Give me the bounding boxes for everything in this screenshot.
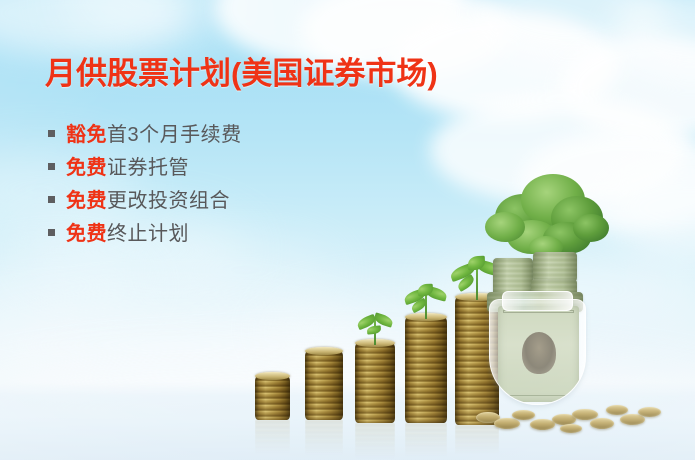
- bullet-highlight: 豁免: [66, 118, 107, 147]
- coin-reflection: [455, 425, 499, 455]
- dollar-bill: [498, 306, 579, 402]
- scattered-coin: [512, 410, 535, 420]
- list-item: 免费 证券托管: [48, 151, 242, 184]
- square-bullet-icon: [48, 130, 55, 137]
- promo-banner: 月供股票计划(美国证券市场) 豁免 首3个月手续费 免费 证券托管 免费 更改投…: [0, 0, 695, 460]
- coin-column: [355, 343, 395, 423]
- coin-column: [255, 376, 290, 420]
- scattered-coin: [590, 418, 614, 429]
- plant-sprout: [404, 285, 448, 319]
- page-title: 月供股票计划(美国证券市场): [45, 48, 438, 93]
- tree-canopy: [573, 214, 609, 242]
- coin-stack: [305, 351, 343, 420]
- coin-column: [405, 317, 447, 423]
- jar-body: [489, 299, 586, 405]
- bullet-text: 首3个月手续费: [107, 118, 242, 147]
- tree-canopy: [485, 212, 525, 242]
- money-jar: [489, 285, 586, 405]
- bullet-text: 终止计划: [107, 217, 189, 246]
- bullet-highlight: 免费: [66, 184, 107, 213]
- jar-neck: [502, 291, 573, 311]
- list-item: 免费 终止计划: [48, 217, 242, 250]
- square-bullet-icon: [48, 163, 55, 170]
- square-bullet-icon: [48, 196, 55, 203]
- coin-reflection: [305, 420, 343, 456]
- bullet-highlight: 免费: [66, 151, 107, 180]
- scattered-coin: [560, 424, 582, 433]
- plant-sprout: [355, 315, 395, 345]
- bullet-highlight: 免费: [66, 217, 107, 246]
- bullet-text: 证券托管: [107, 151, 189, 180]
- coin-stack: [255, 376, 290, 420]
- coin-column: [305, 351, 343, 420]
- scattered-coin: [530, 419, 555, 430]
- coin-stack: [405, 317, 447, 423]
- bullet-text: 更改投资组合: [107, 184, 230, 213]
- sprout-leaf: [367, 325, 382, 334]
- coin-stack: [355, 343, 395, 423]
- coin-reflection: [255, 420, 290, 454]
- feature-list: 豁免 首3个月手续费 免费 证券托管 免费 更改投资组合 免费 终止计划: [48, 118, 242, 250]
- list-item: 豁免 首3个月手续费: [48, 118, 242, 151]
- rolled-bill: [533, 252, 577, 282]
- coin-reflection: [355, 423, 395, 459]
- scattered-coin: [638, 407, 661, 417]
- scattered-coin: [494, 418, 520, 429]
- scattered-coin: [606, 405, 628, 415]
- coin-top-face: [305, 347, 343, 355]
- coin-top-face: [255, 372, 290, 380]
- list-item: 免费 更改投资组合: [48, 184, 242, 217]
- square-bullet-icon: [48, 229, 55, 236]
- coin-reflection: [405, 423, 447, 457]
